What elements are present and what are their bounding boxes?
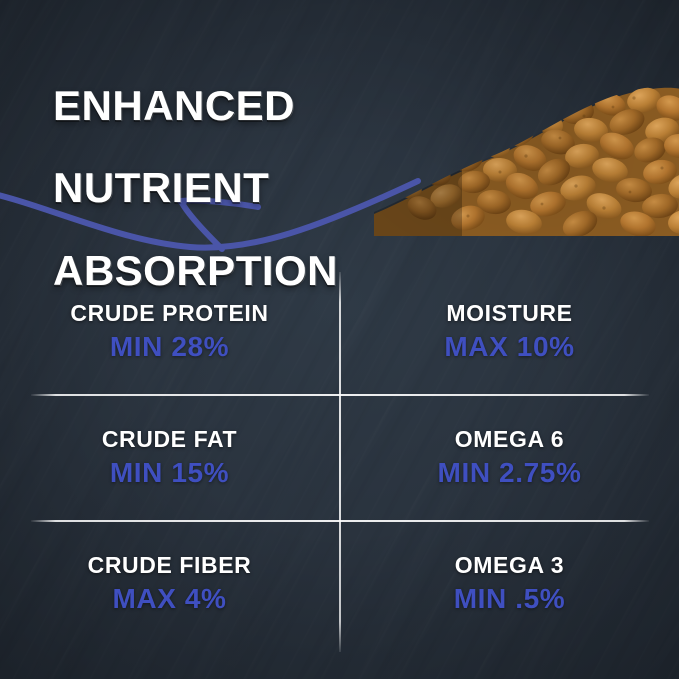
nutrient-cell-omega-3: OMEGA 3 MIN .5% xyxy=(340,520,679,646)
headline-line-1: ENHANCED xyxy=(53,85,473,126)
nutrient-label: CRUDE FAT xyxy=(102,426,237,453)
nutrient-cell-omega-6: OMEGA 6 MIN 2.75% xyxy=(340,394,679,520)
nutrient-value: MAX 10% xyxy=(444,331,574,363)
nutrient-label: OMEGA 3 xyxy=(455,552,564,579)
headline-line-2: NUTRIENT xyxy=(53,167,473,208)
nutrient-value: MIN 15% xyxy=(110,457,229,489)
nutrient-cell-crude-fat: CRUDE FAT MIN 15% xyxy=(0,394,339,520)
nutrition-poster: ENHANCED NUTRIENT ABSORPTION CRUDE PROTE… xyxy=(0,0,679,679)
nutrient-value: MIN .5% xyxy=(454,583,566,615)
headline-line-3: ABSORPTION xyxy=(53,250,473,291)
nutrient-cell-crude-fiber: CRUDE FIBER MAX 4% xyxy=(0,520,339,646)
nutrient-label: OMEGA 6 xyxy=(455,426,564,453)
nutrient-label: CRUDE FIBER xyxy=(88,552,252,579)
page-title: ENHANCED NUTRIENT ABSORPTION xyxy=(53,44,473,332)
nutrient-value: MAX 4% xyxy=(112,583,226,615)
nutrient-value: MIN 2.75% xyxy=(438,457,582,489)
nutrient-value: MIN 28% xyxy=(110,331,229,363)
